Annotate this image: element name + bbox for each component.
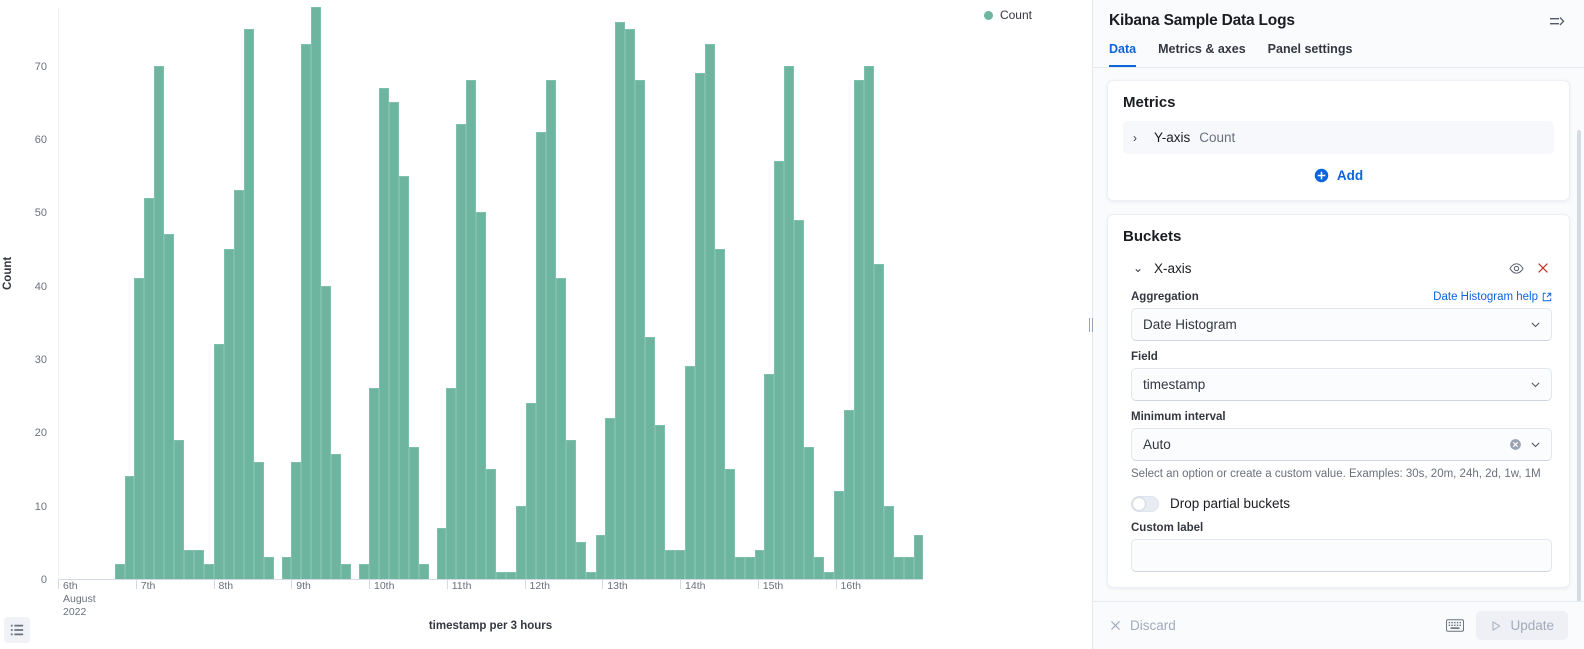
y-axis-tick-label: 70 [35,61,47,73]
bar[interactable] [904,557,914,579]
x-axis-tick-label: 6thAugust2022 [58,580,96,589]
bar[interactable] [379,88,389,579]
custom-label-label: Custom label [1131,522,1203,534]
bar[interactable] [321,286,331,579]
y-axis-tick-label: 50 [35,207,47,219]
visualization-chart-pane: Count Count 010203040506070 6thAugust202… [0,0,1092,649]
bar[interactable] [804,447,814,579]
chevron-down-icon [1529,378,1542,391]
field-block: Field timestamp [1123,351,1554,401]
bar[interactable] [596,535,606,579]
add-metric-button[interactable]: Add [1123,154,1554,185]
keyboard-shortcuts-button[interactable] [1444,617,1466,635]
x-axis-tick-label: 16th [836,580,861,589]
tab-data[interactable]: Data [1109,42,1136,67]
custom-label-input[interactable] [1131,539,1552,572]
bar[interactable] [814,557,824,579]
bar[interactable] [526,403,536,579]
bar[interactable] [665,550,675,579]
bar[interactable] [419,564,429,579]
bar[interactable] [735,557,745,579]
resize-grip-line [1092,318,1093,332]
y-axis-tick-label: 40 [35,281,47,293]
y-axis-tick-label: 60 [35,134,47,146]
bar[interactable] [635,80,645,579]
bar[interactable] [254,462,264,579]
list-icon [10,623,24,637]
bar[interactable] [486,469,496,579]
add-metric-label: Add [1337,168,1363,183]
panel-scrollbar[interactable] [1577,130,1581,601]
editor-scroll-body: Metrics › Y-axis Count Add Buck [1093,68,1584,601]
bar[interactable] [556,278,566,579]
chevron-right-icon: › [1133,131,1145,145]
resize-grip-line [1089,318,1090,332]
panel-header: Kibana Sample Data Logs [1093,0,1584,32]
bar[interactable] [755,550,765,579]
bar[interactable] [456,124,466,579]
metric-axis-value: Count [1199,130,1235,145]
legend-color-dot [984,11,993,20]
page-title: Kibana Sample Data Logs [1109,12,1295,30]
bar[interactable] [655,425,665,579]
bar[interactable] [234,190,244,579]
remove-bucket-button[interactable] [1534,259,1552,277]
bar[interactable] [605,418,615,579]
bar[interactable] [144,198,154,579]
bar[interactable] [154,66,164,579]
discard-button[interactable]: Discard [1109,618,1176,633]
bar[interactable] [874,264,884,579]
bar[interactable] [359,564,369,579]
bar[interactable] [341,564,351,579]
bar[interactable] [705,44,715,579]
bar[interactable] [725,469,735,579]
tab-metrics-axes[interactable]: Metrics & axes [1158,42,1246,67]
custom-label-block: Custom label [1123,522,1554,572]
buckets-card: Buckets ⌄ X-axis [1107,214,1570,588]
bar[interactable] [745,557,755,579]
x-axis-tick-label: 12th [525,580,550,589]
bar[interactable] [615,22,625,579]
bar[interactable] [764,374,774,579]
eye-icon [1509,261,1524,276]
external-link-icon [1542,292,1552,302]
bar[interactable] [576,542,586,579]
field-value: timestamp [1143,377,1529,392]
bar[interactable] [506,572,516,579]
bar[interactable] [645,337,655,579]
bar[interactable] [194,550,204,579]
panel-resize-handle[interactable] [1089,318,1093,332]
bar[interactable] [244,29,254,579]
drop-partial-buckets-label: Drop partial buckets [1170,496,1290,511]
minimum-interval-label: Minimum interval [1131,411,1226,423]
minimum-interval-block: Minimum interval Auto Select an option o… [1123,411,1554,512]
date-histogram-help-link[interactable]: Date Histogram help [1433,291,1552,303]
bar[interactable] [446,388,456,579]
keyboard-icon [1446,619,1464,632]
play-triangle-icon [1490,620,1502,632]
bar[interactable] [834,491,844,579]
bar[interactable] [399,176,409,579]
bar[interactable] [546,80,556,579]
bar[interactable] [311,7,321,579]
bar[interactable] [566,440,576,579]
x-axis-title: timestamp per 3 hours [58,620,923,632]
bar[interactable] [695,73,705,579]
metrics-card-title: Metrics [1123,94,1554,111]
aggregation-select[interactable]: Date Histogram [1131,308,1552,341]
x-axis-tick-label: 9th [291,580,311,589]
drop-partial-buckets-row[interactable]: Drop partial buckets [1131,496,1552,512]
bar[interactable] [784,66,794,579]
bar[interactable] [496,572,506,579]
x-axis-tick-label: 15th [758,580,783,589]
plot-area [58,8,923,580]
update-label: Update [1510,618,1554,633]
buckets-card-title: Buckets [1123,228,1554,245]
editor-tabs[interactable]: Data Metrics & axes Panel settings [1093,32,1584,68]
toggle-visibility-button[interactable] [1507,259,1525,277]
bar[interactable] [389,102,399,579]
x-axis-tick-label: 10th [369,580,394,589]
minimum-interval-hint: Select an option or create a custom valu… [1131,467,1552,483]
y-axis-tick-label: 10 [35,501,47,513]
bar[interactable] [174,440,184,579]
bar[interactable] [224,249,234,579]
x-axis-tick-label: 7th [136,580,156,589]
bucket-axis-label: X-axis [1154,261,1192,276]
editor-side-panel: Kibana Sample Data Logs Data Metrics & a… [1092,0,1584,649]
bar[interactable] [184,550,194,579]
bar[interactable] [774,161,784,579]
help-link-text: Date Histogram help [1433,291,1538,303]
metric-row-y-axis[interactable]: › Y-axis Count [1123,121,1554,154]
clear-value-icon[interactable] [1509,438,1522,451]
bar[interactable] [586,572,596,579]
discard-label: Discard [1130,618,1176,633]
bar[interactable] [214,344,224,579]
bar[interactable] [715,249,725,579]
x-axis-tick-label: 14th [680,580,705,589]
bar[interactable] [685,366,695,579]
aggregation-value: Date Histogram [1143,317,1529,332]
y-axis-tick-label: 0 [41,574,47,586]
collapse-panel-button[interactable] [1546,12,1568,32]
bucket-row-x-axis[interactable]: ⌄ X-axis [1123,255,1554,281]
aggregation-field-block: Aggregation Date Histogram help Date His… [1123,291,1554,341]
y-axis-tick-label: 30 [35,354,47,366]
bar[interactable] [291,462,301,579]
bar[interactable] [466,80,476,579]
field-label: Field [1131,351,1158,363]
bar[interactable] [824,572,834,579]
tab-panel-settings[interactable]: Panel settings [1268,42,1353,67]
bar[interactable] [794,220,804,579]
y-axis-tick-label: 20 [35,427,47,439]
editor-footer: Discard [1093,601,1584,649]
bar[interactable] [884,506,894,579]
field-select[interactable]: timestamp [1131,368,1552,401]
bar[interactable] [409,447,419,579]
legend-item-label: Count [1000,8,1032,22]
close-x-icon [1109,619,1122,632]
bar[interactable] [134,278,144,579]
bar[interactable] [854,80,864,579]
plus-circle-icon [1314,168,1329,183]
legend-toggle-button[interactable] [4,617,30,643]
bar[interactable] [516,506,526,579]
update-button[interactable]: Update [1476,611,1568,640]
bar[interactable] [625,29,635,579]
aggregation-label: Aggregation [1131,291,1199,303]
bar[interactable] [476,212,486,579]
bar[interactable] [164,234,174,579]
bar[interactable] [864,66,874,579]
bar[interactable] [331,454,341,579]
bar[interactable] [675,550,685,579]
arrow-right-collapse-icon [1549,14,1565,30]
chevron-down-icon: ⌄ [1133,261,1145,275]
bar[interactable] [914,535,924,579]
x-axis-tick-label: 11th [447,580,472,589]
bar[interactable] [844,410,854,579]
bar[interactable] [369,388,379,579]
chevron-down-icon [1529,318,1542,331]
minimum-interval-combobox[interactable]: Auto [1131,428,1552,461]
bar[interactable] [115,564,125,579]
y-axis-ticks: 010203040506070 [0,0,56,649]
bar[interactable] [437,528,447,579]
bar[interactable] [264,557,274,579]
bar[interactable] [282,557,292,579]
metrics-card: Metrics › Y-axis Count Add [1107,80,1570,201]
chart-legend[interactable]: Count [984,8,1032,22]
metric-axis-label: Y-axis [1154,130,1190,145]
bar[interactable] [894,557,904,579]
bar-series[interactable] [59,8,923,579]
chevron-down-icon [1529,438,1542,451]
bar[interactable] [301,44,311,579]
close-x-icon [1536,261,1550,275]
bar[interactable] [125,476,135,579]
x-axis-tick-label: 13th [602,580,627,589]
bar[interactable] [204,564,214,579]
x-axis-tick-label: 8th [214,580,234,589]
drop-partial-buckets-toggle[interactable] [1131,496,1159,512]
minimum-interval-value: Auto [1143,437,1509,452]
bar[interactable] [536,132,546,579]
